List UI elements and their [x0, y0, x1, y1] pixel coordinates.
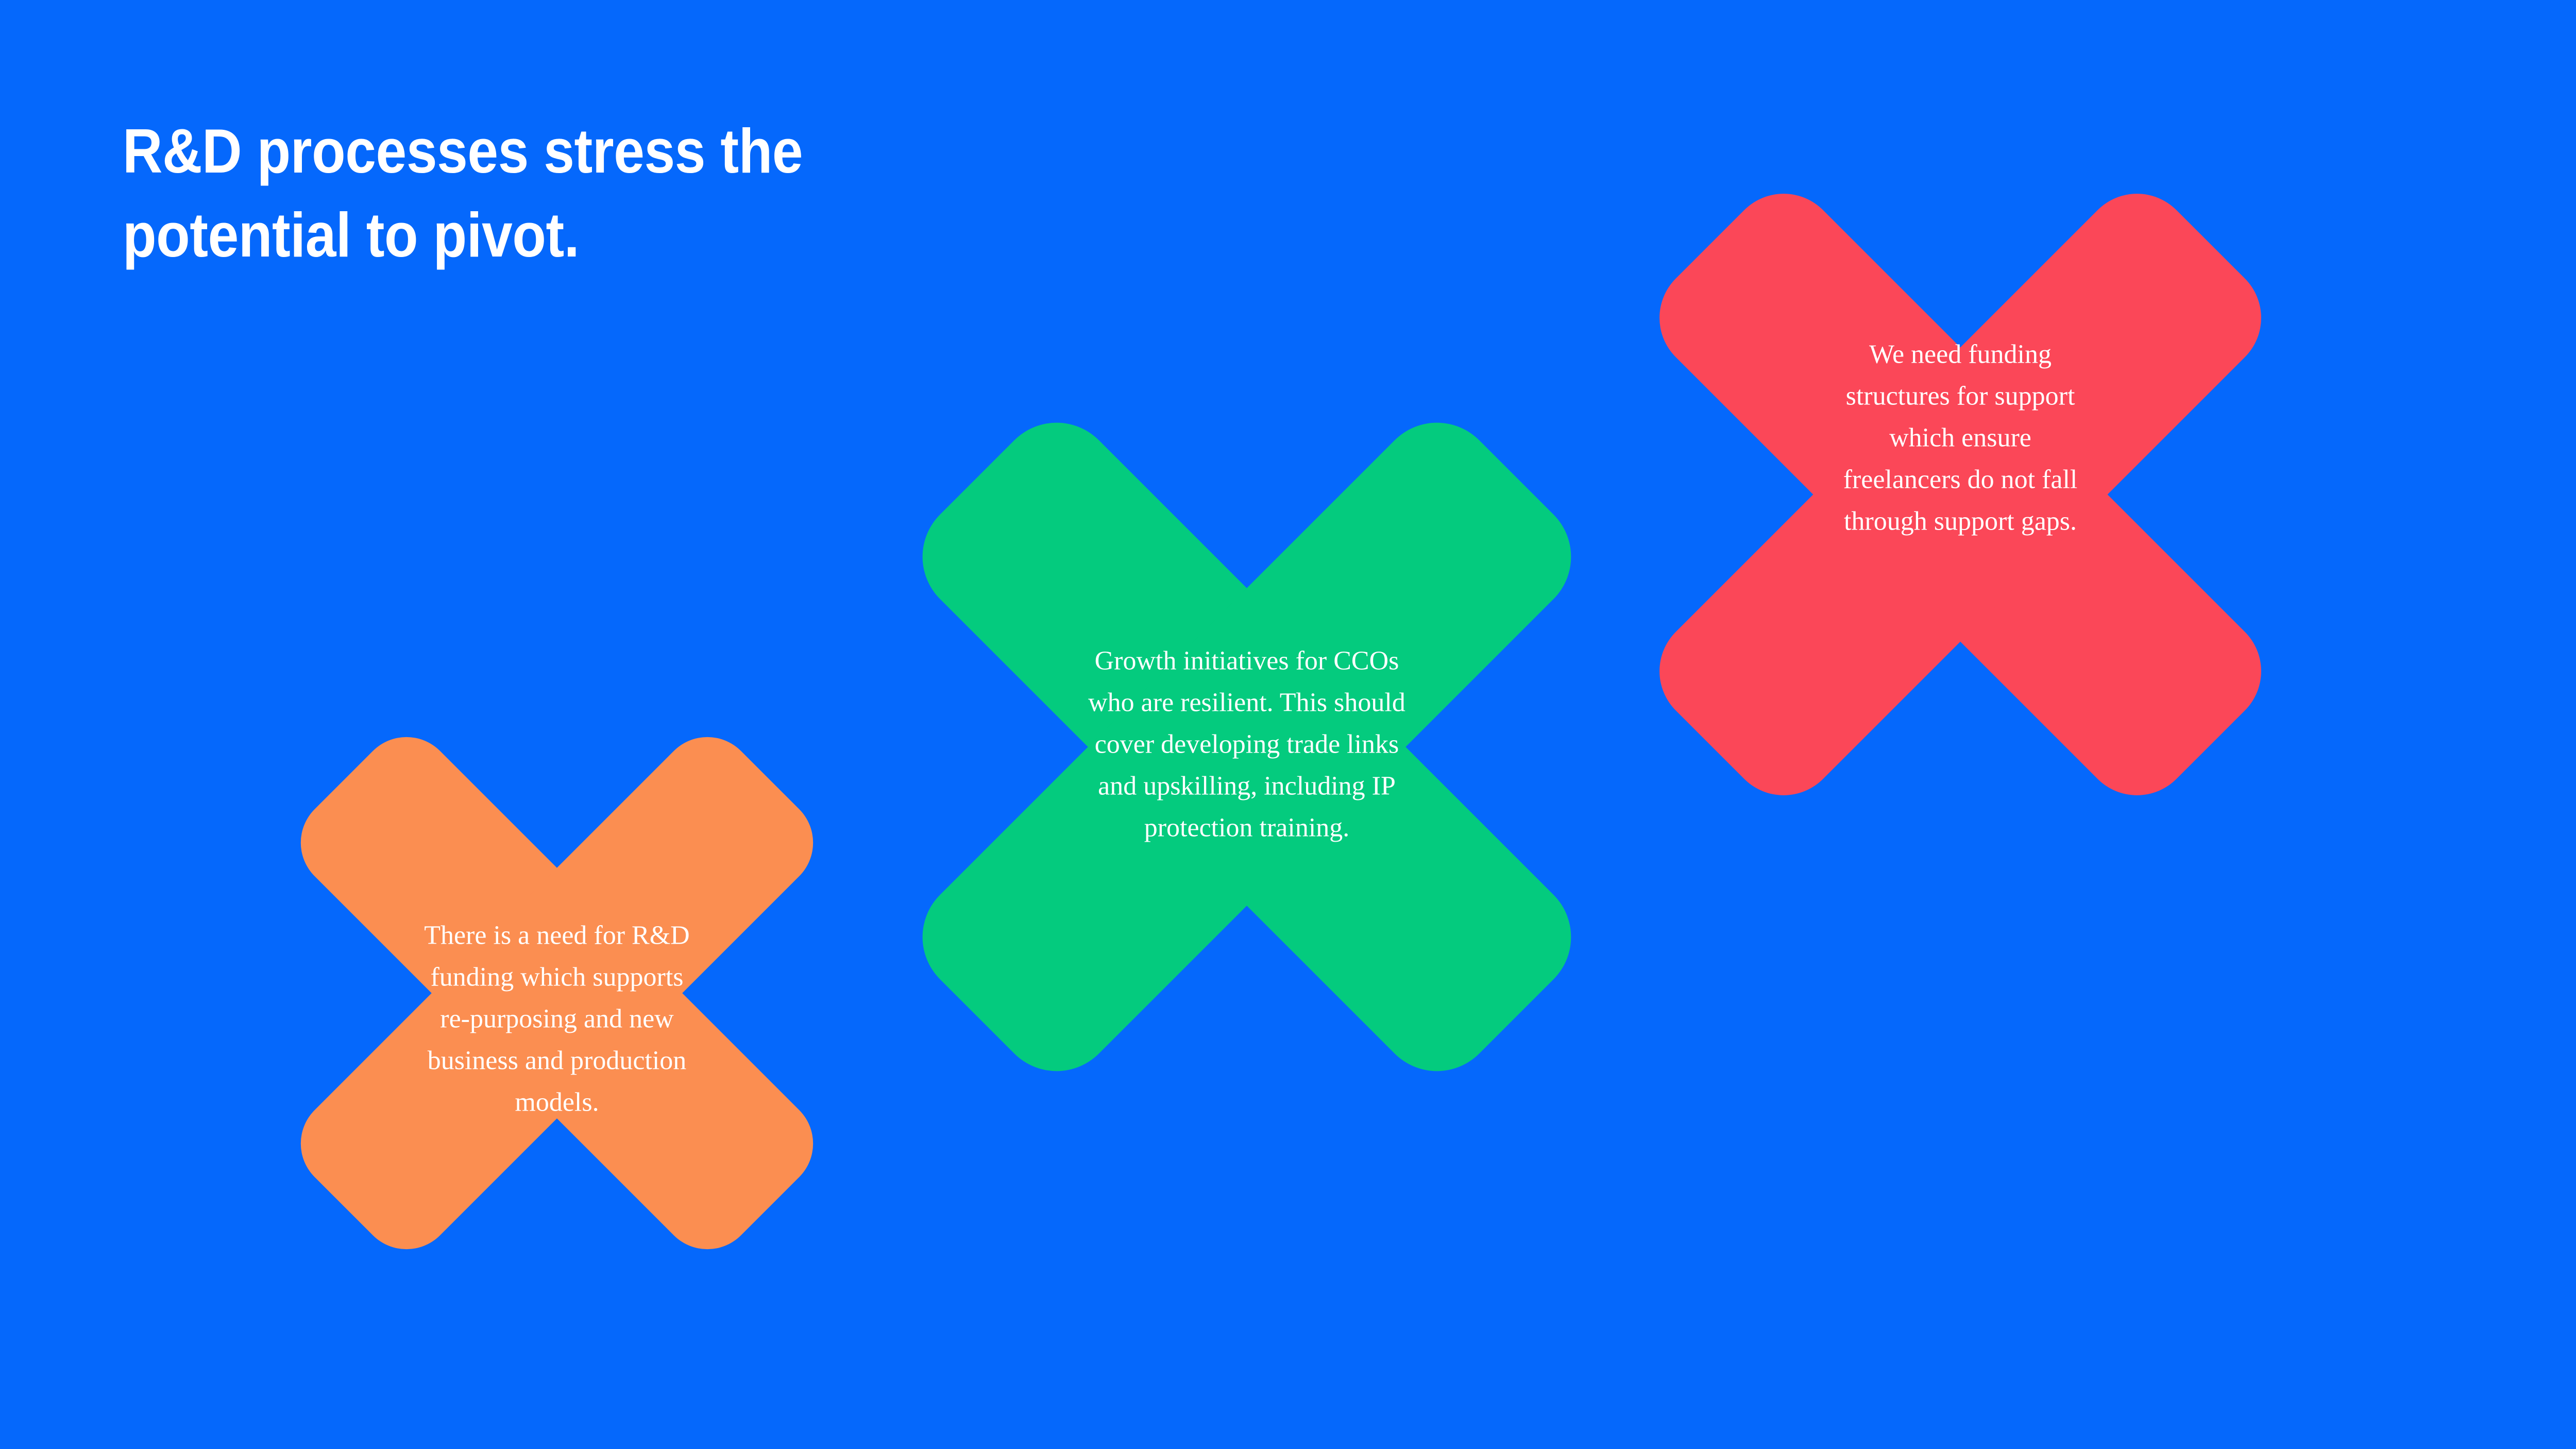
- slide-canvas: R&D processes stress the potential to pi…: [0, 0, 2576, 1449]
- page-title: R&D processes stress the potential to pi…: [123, 109, 893, 277]
- orange-cross[interactable]: There is a need for R&D funding which su…: [219, 655, 895, 1331]
- orange-cross-text: There is a need for R&D funding which su…: [423, 915, 691, 1123]
- green-cross[interactable]: Growth initiatives for CCOs who are resi…: [819, 319, 1674, 1174]
- red-cross[interactable]: We need funding structures for support w…: [1564, 98, 2357, 891]
- red-cross-text: We need funding structures for support w…: [1832, 334, 2089, 542]
- green-cross-text: Growth initiatives for CCOs who are resi…: [1087, 640, 1406, 849]
